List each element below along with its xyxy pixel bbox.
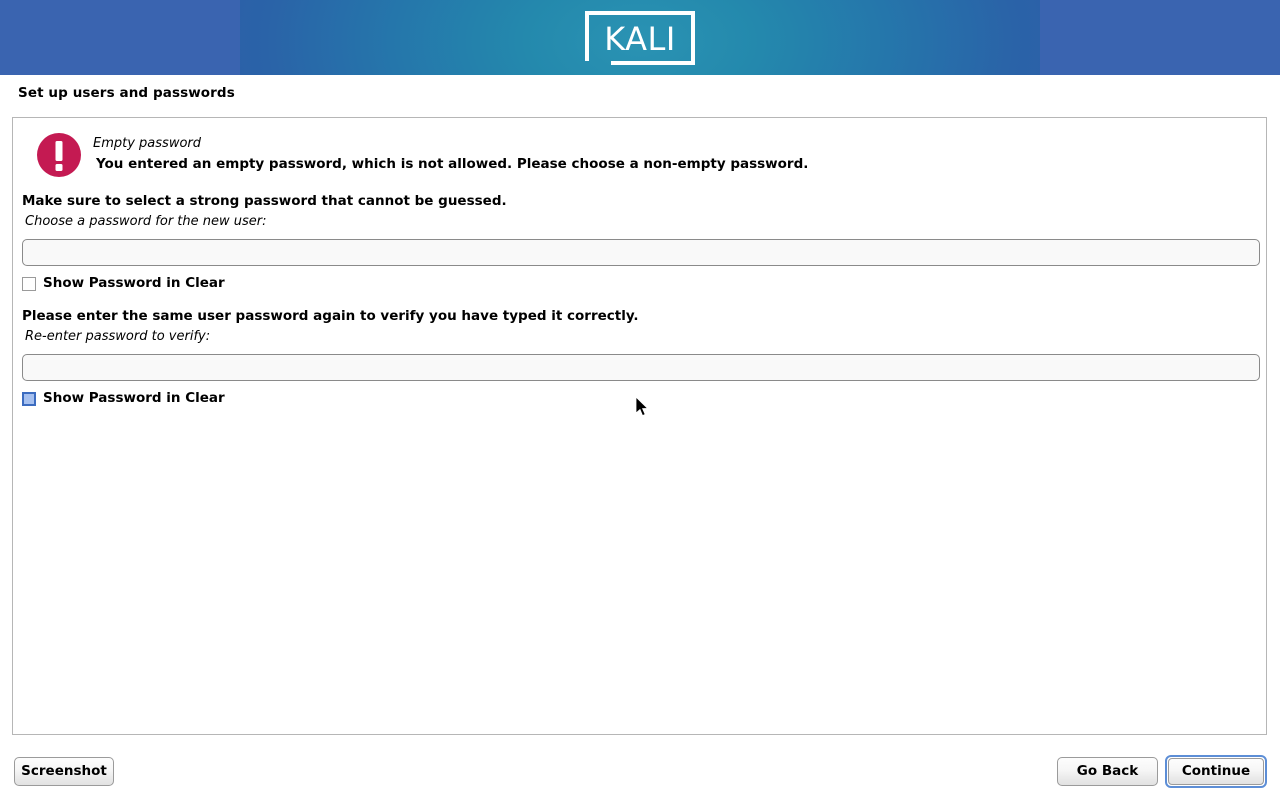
verify-password-input[interactable] bbox=[22, 354, 1260, 381]
show-password-checkbox-2-label: Show Password in Clear bbox=[43, 390, 225, 406]
verify-password-prompt: Please enter the same user password agai… bbox=[22, 308, 639, 324]
password-field-label: Choose a password for the new user: bbox=[25, 214, 267, 229]
page-title: Set up users and passwords bbox=[18, 85, 235, 101]
show-password-checkbox-1-label: Show Password in Clear bbox=[43, 275, 225, 291]
error-detail-text: You entered an empty password, which is … bbox=[96, 156, 808, 172]
kali-header-banner: KALI bbox=[0, 0, 1280, 75]
continue-button[interactable]: Continue bbox=[1168, 758, 1264, 785]
main-panel: Empty password You entered an empty pass… bbox=[12, 117, 1267, 735]
show-password-checkbox-1[interactable] bbox=[22, 277, 36, 291]
error-message-block: Empty password You entered an empty pass… bbox=[24, 127, 1254, 189]
password-strength-prompt: Make sure to select a strong password th… bbox=[22, 193, 507, 209]
show-password-checkbox-2[interactable] bbox=[22, 392, 36, 406]
go-back-button[interactable]: Go Back bbox=[1057, 757, 1158, 786]
svg-text:KALI: KALI bbox=[604, 20, 676, 58]
error-title: Empty password bbox=[93, 136, 201, 151]
password-input[interactable] bbox=[22, 239, 1260, 266]
screenshot-button[interactable]: Screenshot bbox=[14, 757, 114, 786]
kali-logo-icon: KALI bbox=[583, 9, 697, 67]
error-exclamation-icon bbox=[36, 132, 82, 178]
continue-button-focus-ring: Continue bbox=[1165, 755, 1267, 788]
verify-field-label: Re-enter password to verify: bbox=[25, 329, 210, 344]
